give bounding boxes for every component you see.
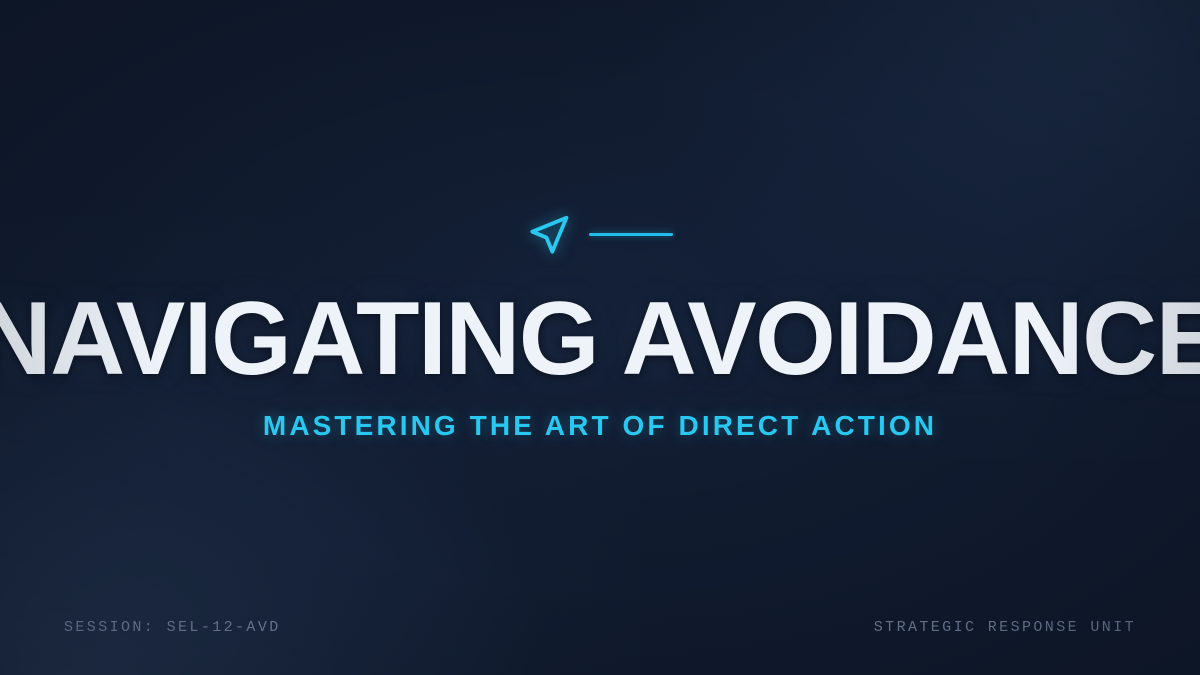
page-title: NAVIGATING AVOIDANCE xyxy=(0,289,1200,391)
slide-content: NAVIGATING AVOIDANCE MASTERING THE ART O… xyxy=(0,0,1200,675)
page-subtitle: MASTERING THE ART OF DIRECT ACTION xyxy=(263,410,937,442)
accent-rule xyxy=(589,233,673,236)
session-code-label: SESSION: SEL-12-AVD xyxy=(64,619,281,636)
organization-label: STRATEGIC RESPONSE UNIT xyxy=(874,619,1136,636)
eyebrow-ornament xyxy=(527,215,673,255)
navigation-arrow-icon xyxy=(527,213,571,257)
slide-footer: SESSION: SEL-12-AVD STRATEGIC RESPONSE U… xyxy=(64,619,1136,636)
title-slide: NAVIGATING AVOIDANCE MASTERING THE ART O… xyxy=(0,0,1200,675)
